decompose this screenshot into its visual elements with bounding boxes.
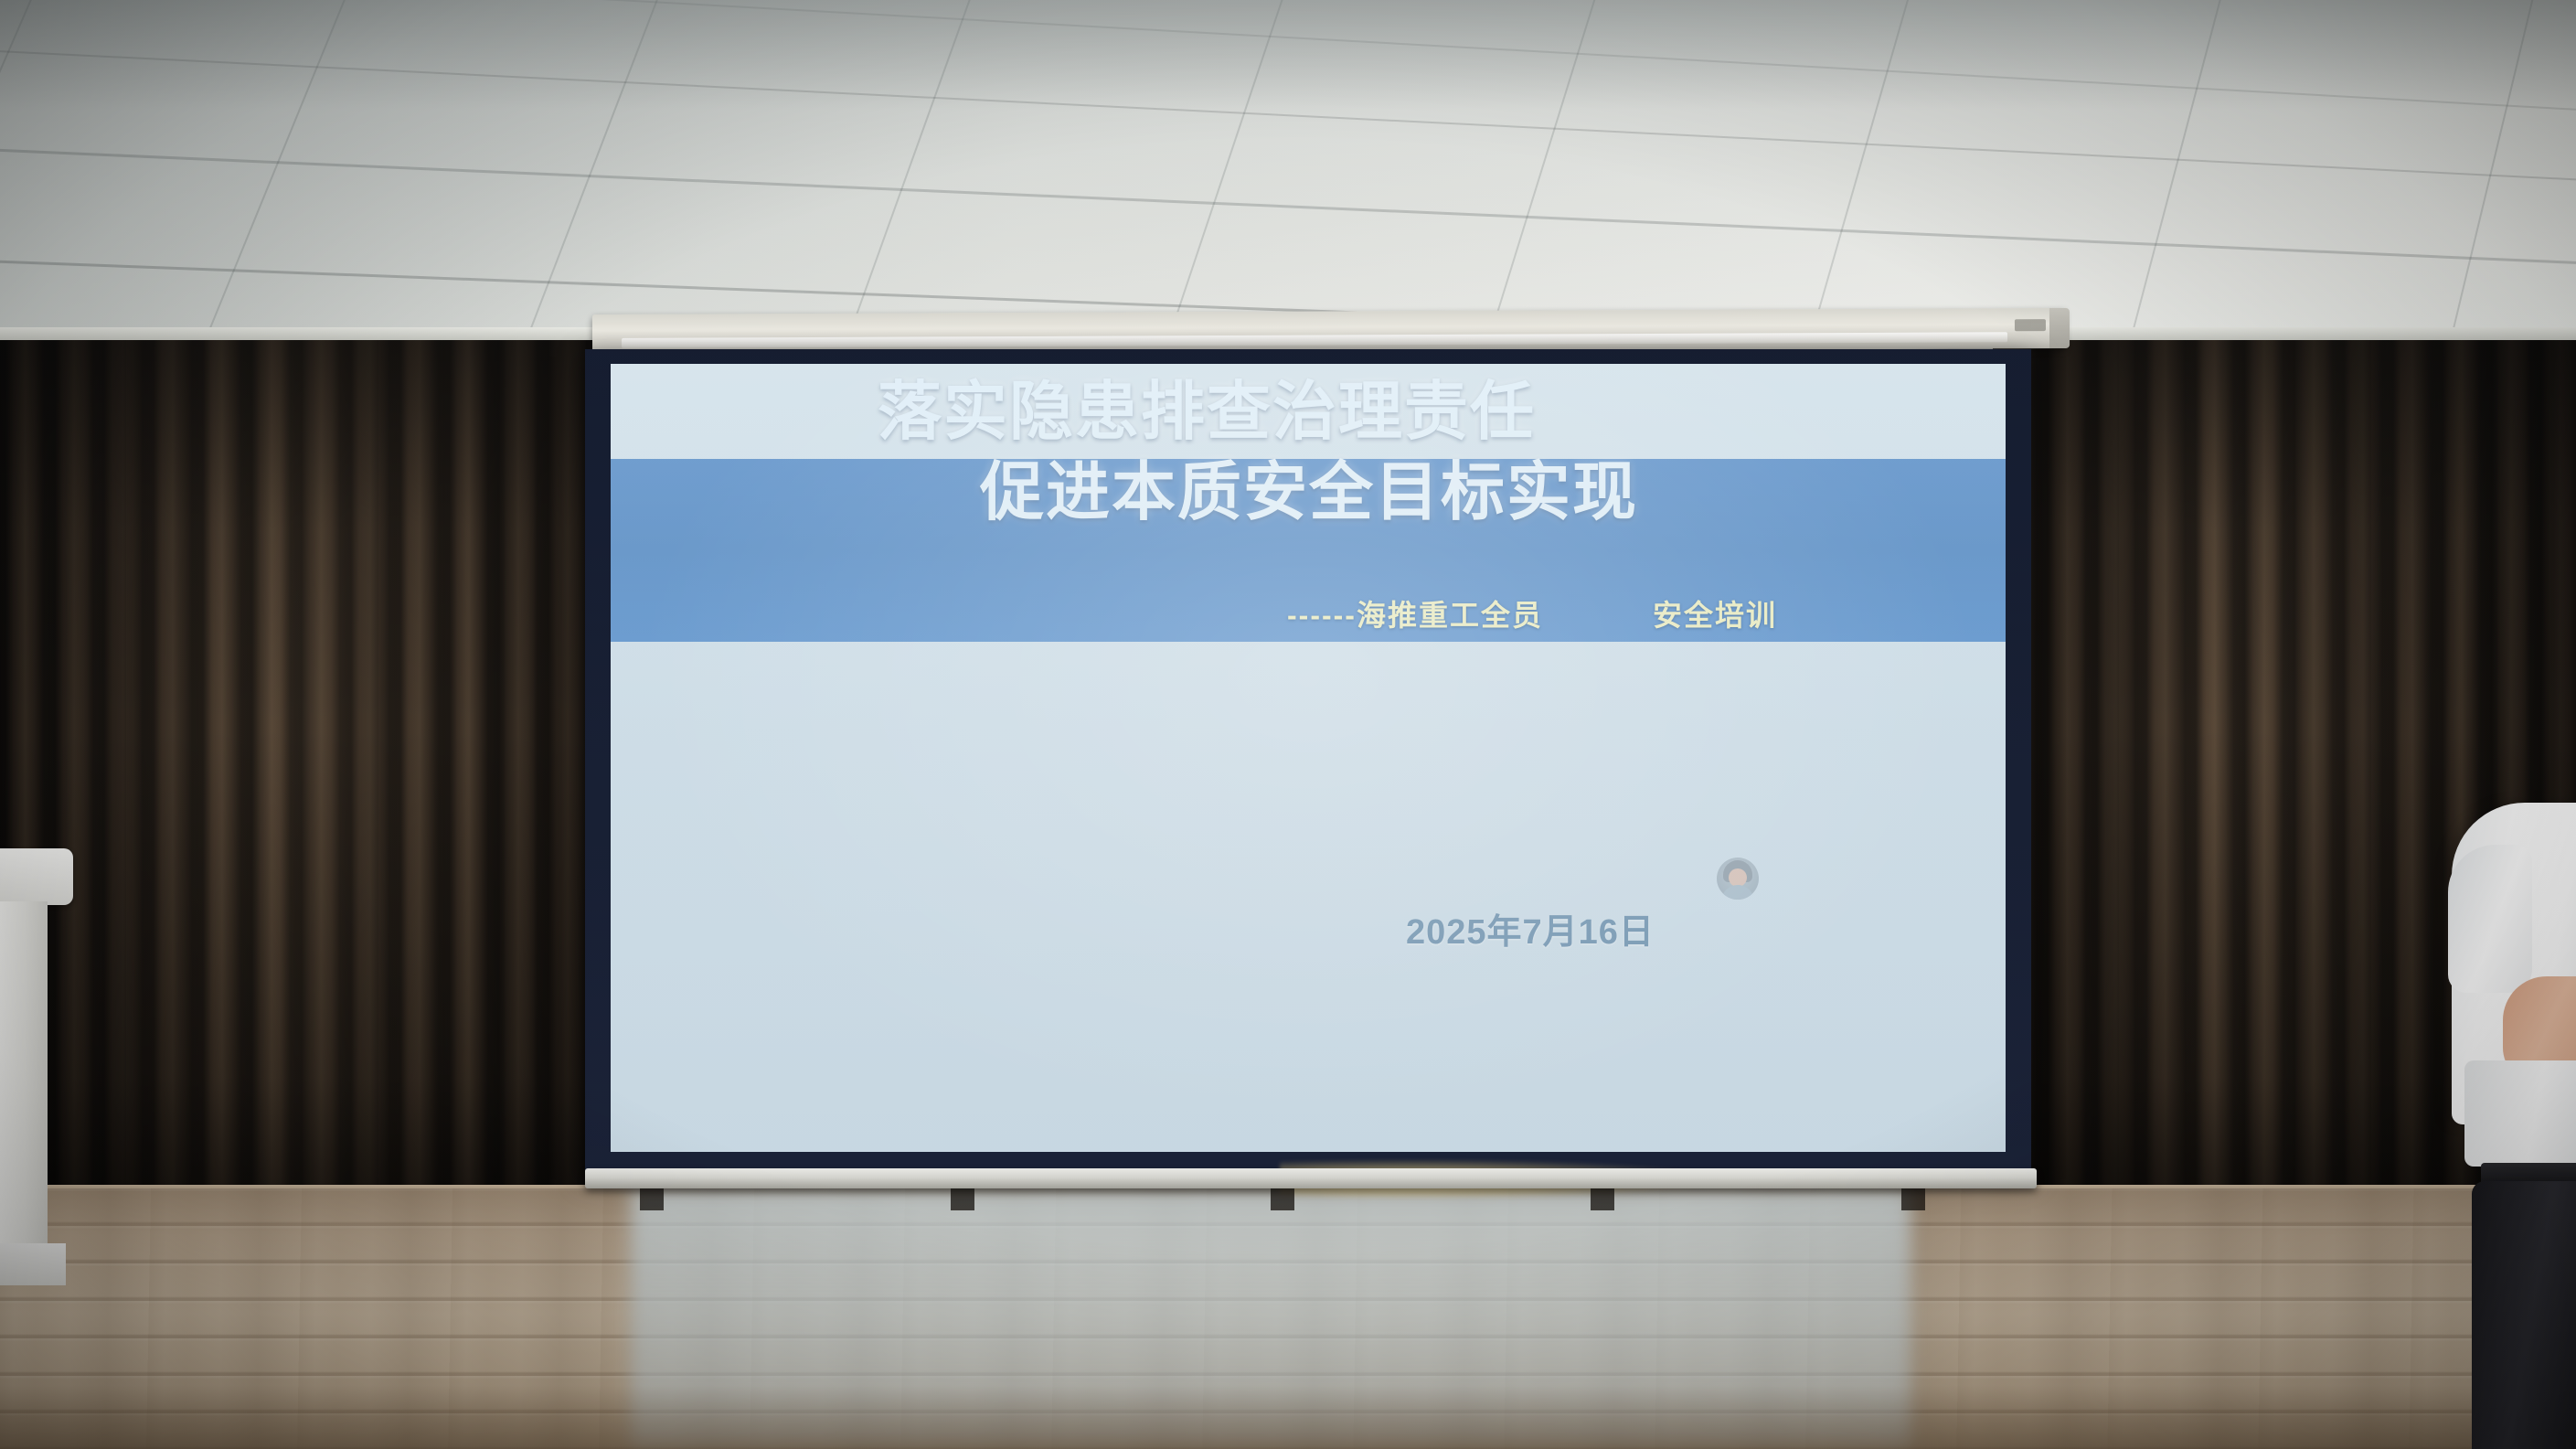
screen-support-shadows	[640, 1187, 1975, 1210]
conference-room-scene: 落实隐患排查治理责任 促进本质安全目标实现 ------海推重工全员 安全培训 …	[0, 0, 2576, 1449]
avatar-body	[1721, 885, 1754, 900]
presenter-avatar-icon	[1717, 858, 1759, 900]
curtain-shading	[0, 340, 640, 1198]
suspended-ceiling	[0, 0, 2576, 358]
person-trousers	[2472, 1181, 2576, 1449]
projector-screen: 落实隐患排查治理责任 促进本质安全目标实现 ------海推重工全员 安全培训 …	[585, 349, 2031, 1172]
slide-title-line-1: 落实隐患排查治理责任	[878, 364, 1536, 453]
slide-title-line-2: 促进本质安全目标实现	[980, 441, 1638, 533]
ceiling-shadow-top	[0, 0, 2576, 110]
wood-floor	[0, 1188, 2576, 1449]
casing-highlight	[622, 332, 2007, 348]
standing-person	[2432, 803, 2576, 1449]
person-sleeve	[2448, 845, 2532, 993]
slide-subtitle-left: ------海推重工全员	[1287, 592, 1543, 634]
avatar-face	[1729, 868, 1747, 887]
casing-label-icon	[2015, 319, 2046, 331]
casing-end-cap	[2049, 308, 2070, 348]
curtain-left	[0, 340, 640, 1198]
slide-subtitle-row: ------海推重工全员 安全培训	[1287, 592, 1872, 634]
slide-date: 2025年7月16日	[1406, 903, 1655, 954]
lectern-body	[0, 901, 48, 1249]
screen-roller-casing[interactable]	[592, 308, 2066, 355]
lectern	[0, 848, 73, 1278]
screen-weight-bar	[585, 1168, 2037, 1188]
lectern-top	[0, 848, 73, 905]
slide-subtitle-right: 安全培训	[1653, 592, 1777, 634]
lectern-base	[0, 1243, 66, 1285]
person-shirt-lower	[2464, 1060, 2576, 1167]
presentation-slide: 落实隐患排查治理责任 促进本质安全目标实现 ------海推重工全员 安全培训 …	[611, 364, 2006, 1152]
floor-foreground-shadow	[0, 1385, 2576, 1449]
screen-surface: 落实隐患排查治理责任 促进本质安全目标实现 ------海推重工全员 安全培训 …	[611, 364, 2006, 1152]
